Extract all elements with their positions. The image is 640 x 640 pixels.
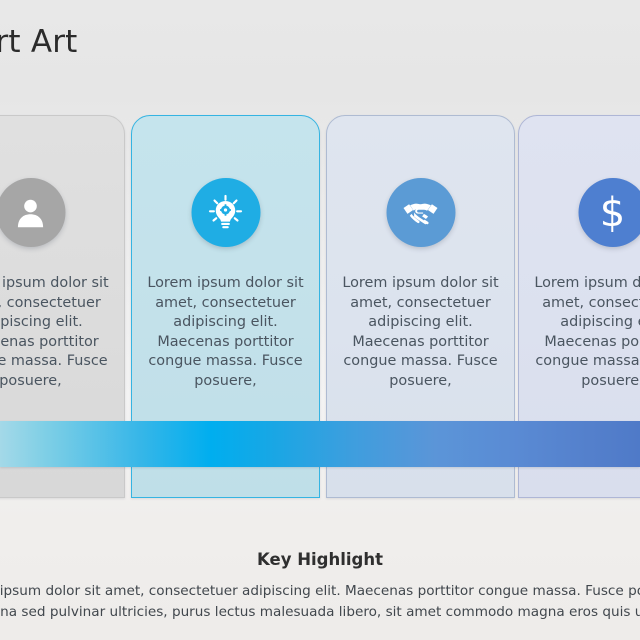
slide-canvas: Smart Art Lorem ipsum dolor sit amet, co… bbox=[0, 0, 640, 640]
dollar-sign-icon: $ bbox=[578, 178, 640, 247]
card-body-text: Lorem ipsum dolor sit amet, consectetuer… bbox=[531, 274, 640, 391]
handshake-icon bbox=[386, 178, 455, 247]
footer-body-text: Lorem ipsum dolor sit amet, consectetuer… bbox=[0, 581, 640, 623]
card-body-text: Lorem ipsum dolor sit amet, consectetuer… bbox=[144, 274, 307, 391]
page-title: Smart Art bbox=[0, 24, 346, 60]
person-icon bbox=[0, 178, 65, 247]
dollar-glyph: $ bbox=[600, 193, 625, 233]
gradient-progress-bar bbox=[0, 421, 640, 467]
lightbulb-idea-icon bbox=[191, 178, 260, 247]
footer-heading: Key Highlight bbox=[0, 550, 640, 569]
card-body-text: Lorem ipsum dolor sit amet, consectetuer… bbox=[0, 274, 112, 391]
card-body-text: Lorem ipsum dolor sit amet, consectetuer… bbox=[339, 274, 502, 391]
